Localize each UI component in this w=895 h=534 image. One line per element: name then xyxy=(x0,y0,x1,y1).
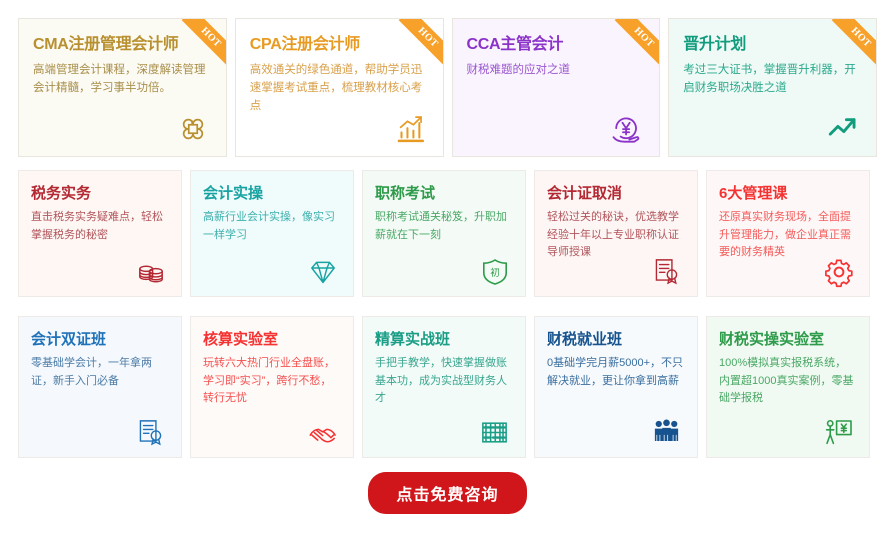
course-description: 高效通关的绿色通道，帮助学员迅速掌握考试重点，梳理教材核心考点 xyxy=(250,62,428,115)
certificate-badge-icon xyxy=(135,417,167,449)
course-description: 玩转六大热门行业全盘账，学习即“实习”，跨行不愁，转行无忧 xyxy=(203,355,341,408)
course-description: 直击税务实务疑难点，轻松掌握税务的秘密 xyxy=(31,209,169,244)
course-card-tax-practice-lab[interactable]: 财税实操实验室 100%模拟真实报税系统，内置超1000真实案例，零基础学报税 xyxy=(706,316,870,458)
course-title: CMA注册管理会计师 xyxy=(33,35,212,54)
course-title: 职称考试 xyxy=(375,185,513,203)
bar-chart-growth-icon xyxy=(393,112,427,146)
course-title: 会计证取消 xyxy=(547,185,685,203)
course-row-3: 会计双证班 零基础学会计，一年拿两证，新手入门必备 核算实验室 玩转六大热门行业… xyxy=(18,316,877,458)
clover-icon xyxy=(176,112,210,146)
course-title: 税务实务 xyxy=(31,185,169,203)
gear-icon xyxy=(823,256,855,288)
trend-arrow-up-icon xyxy=(826,112,860,146)
person-presentation-yen-icon xyxy=(823,417,855,449)
course-title: 财税实操实验室 xyxy=(719,331,857,349)
shield-chu-icon: 初 xyxy=(479,256,511,288)
course-card-tax-practice[interactable]: 税务实务 直击税务实务疑难点，轻松掌握税务的秘密 xyxy=(18,170,182,297)
course-title: CCA主管会计 xyxy=(467,35,646,54)
course-description: 100%模拟真实报税系统，内置超1000真实案例，零基础学报税 xyxy=(719,355,857,408)
yen-in-hand-icon xyxy=(609,112,643,146)
course-title: 晋升计划 xyxy=(683,35,862,54)
handshake-icon xyxy=(307,417,339,449)
course-title: 核算实验室 xyxy=(203,331,341,349)
course-description: 考过三大证书，掌握晋升利器，开启财务职场决胜之道 xyxy=(683,62,861,98)
featured-course-row: HOT CMA注册管理会计师 高端管理会计课程，深度解读管理会计精髓，学习事半功… xyxy=(18,18,877,157)
coin-stack-icon xyxy=(135,256,167,288)
course-description: 零基础学会计，一年拿两证，新手入门必备 xyxy=(31,355,169,390)
course-description: 0基础学完月薪5000+，不只解决就业，更让你拿到高薪 xyxy=(547,355,685,390)
course-title: 会计实操 xyxy=(203,185,341,203)
course-card-cma[interactable]: HOT CMA注册管理会计师 高端管理会计课程，深度解读管理会计精髓，学习事半功… xyxy=(18,18,227,157)
course-card-cca[interactable]: HOT CCA主管会计 财税难题的应对之道 xyxy=(452,18,661,157)
course-card-promotion-plan[interactable]: HOT 晋升计划 考过三大证书，掌握晋升利器，开启财务职场决胜之道 xyxy=(668,18,877,157)
course-row-2: 税务实务 直击税务实务疑难点，轻松掌握税务的秘密 会计实操 高薪行业会计实操，像… xyxy=(18,170,877,297)
certificate-icon xyxy=(651,256,683,288)
course-card-cpa[interactable]: HOT CPA注册会计师 高效通关的绿色通道，帮助学员迅速掌握考试重点，梳理教材… xyxy=(235,18,444,157)
diamond-icon xyxy=(307,256,339,288)
course-card-title-exam[interactable]: 职称考试 职称考试通关秘笈，升职加薪就在下一刻 初 xyxy=(362,170,526,297)
course-card-double-certificate[interactable]: 会计双证班 零基础学会计，一年拿两证，新手入门必备 xyxy=(18,316,182,458)
course-description: 轻松过关的秘诀，优选教学经验十年以上专业职称认证导师授课 xyxy=(547,209,685,262)
course-description: 职称考试通关秘笈，升职加薪就在下一刻 xyxy=(375,209,513,244)
course-card-finance-employment[interactable]: 财税就业班 0基础学完月薪5000+，不只解决就业，更让你拿到高薪 xyxy=(534,316,698,458)
course-card-actuarial-practice[interactable]: 精算实战班 手把手教学，快速掌握做账基本功，成为实战型财务人才 xyxy=(362,316,526,458)
free-consultation-button[interactable]: 点击免费咨询 xyxy=(368,472,526,514)
svg-text:初: 初 xyxy=(490,267,500,279)
course-description: 还原真实财务现场，全面提升管理能力，做企业真正需要的财务精英 xyxy=(719,209,857,262)
course-card-accounting-lab[interactable]: 核算实验室 玩转六大热门行业全盘账，学习即“实习”，跨行不愁，转行无忧 xyxy=(190,316,354,458)
course-description: 财税难题的应对之道 xyxy=(467,62,645,80)
people-group-icon xyxy=(651,417,683,449)
course-title: 会计双证班 xyxy=(31,331,169,349)
course-description: 高薪行业会计实操，像实习一样学习 xyxy=(203,209,341,244)
course-title: 精算实战班 xyxy=(375,331,513,349)
course-card-six-management[interactable]: 6大管理课 还原真实财务现场，全面提升管理能力，做企业真正需要的财务精英 xyxy=(706,170,870,297)
course-description: 手把手教学，快速掌握做账基本功，成为实战型财务人才 xyxy=(375,355,513,408)
course-description: 高端管理会计课程，深度解读管理会计精髓，学习事半功倍。 xyxy=(33,62,211,98)
course-catalog-page: HOT CMA注册管理会计师 高端管理会计课程，深度解读管理会计精髓，学习事半功… xyxy=(0,0,895,534)
course-card-accounting-practice[interactable]: 会计实操 高薪行业会计实操，像实习一样学习 xyxy=(190,170,354,297)
course-title: CPA注册会计师 xyxy=(250,35,429,54)
course-card-certificate-cancel[interactable]: 会计证取消 轻松过关的秘诀，优选教学经验十年以上专业职称认证导师授课 xyxy=(534,170,698,297)
cta-container: 点击免费咨询 xyxy=(0,472,895,514)
course-title: 6大管理课 xyxy=(719,185,857,203)
course-title: 财税就业班 xyxy=(547,331,685,349)
abacus-icon xyxy=(479,417,511,449)
